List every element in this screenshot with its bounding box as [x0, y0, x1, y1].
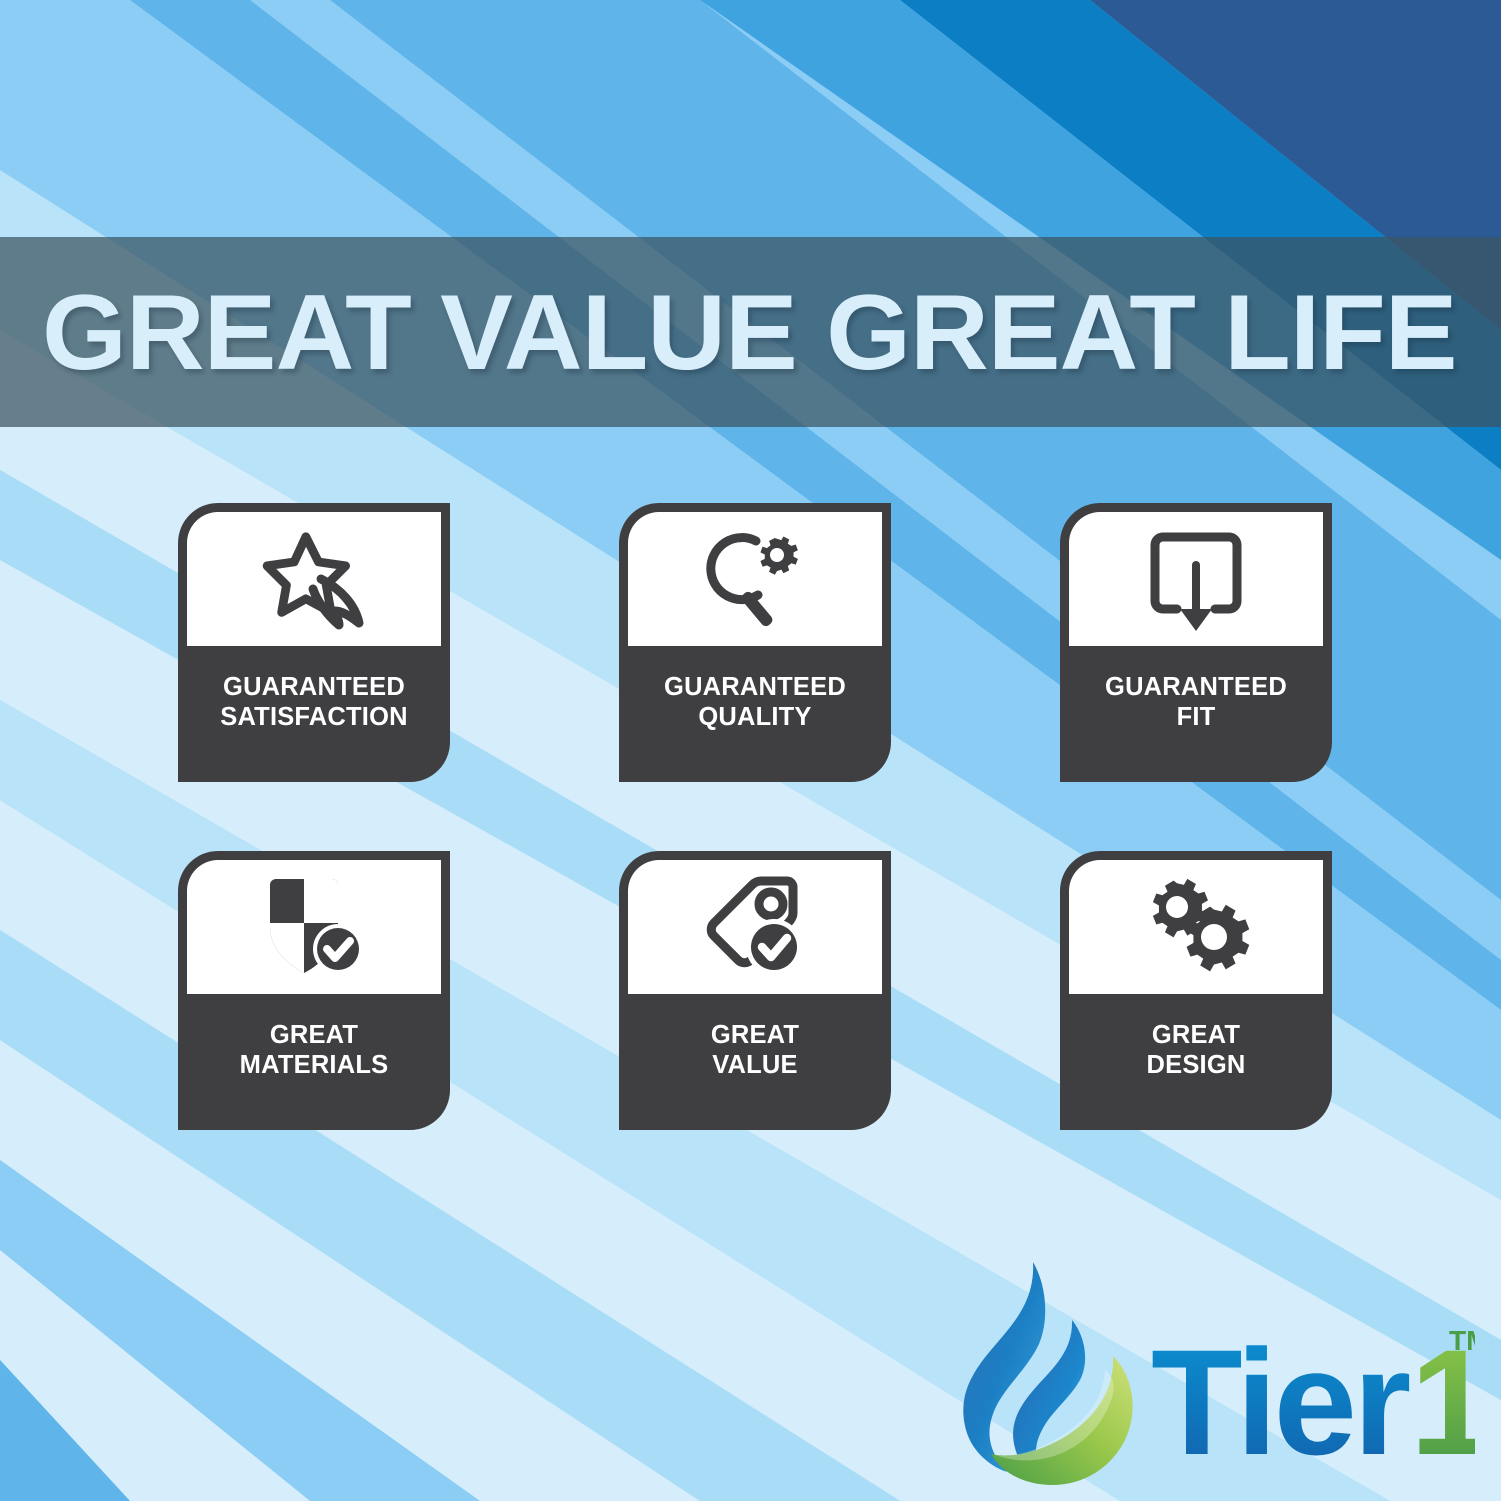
feature-card-guaranteed-quality[interactable]: GUARANTEED QUALITY	[619, 503, 891, 782]
logo-wordmark-tier: Tier	[1151, 1318, 1410, 1486]
icon-panel	[628, 512, 882, 646]
promo-graphic: GREAT VALUE GREAT LIFE GUARANTEED SATISF…	[0, 0, 1501, 1501]
flame-leaf-icon	[963, 1262, 1132, 1485]
icon-panel	[628, 860, 882, 994]
card-label: GUARANTEED SATISFACTION	[187, 646, 441, 773]
feature-card-guaranteed-satisfaction[interactable]: GUARANTEED SATISFACTION	[178, 503, 450, 782]
card-label: GUARANTEED QUALITY	[628, 646, 882, 773]
card-label: GREAT VALUE	[628, 994, 882, 1121]
logo-trademark: TM	[1449, 1325, 1475, 1356]
shield-check-icon	[256, 871, 372, 983]
shooting-star-icon	[255, 523, 373, 635]
icon-panel	[1069, 860, 1323, 994]
box-arrow-down-icon	[1143, 523, 1249, 635]
price-tag-check-icon	[695, 871, 815, 983]
feature-card-great-value[interactable]: GREAT VALUE	[619, 851, 891, 1130]
page-title: GREAT VALUE GREAT LIFE	[42, 279, 1457, 386]
icon-panel	[187, 860, 441, 994]
magnifier-gear-icon	[694, 523, 816, 635]
feature-card-great-design[interactable]: GREAT DESIGN	[1060, 851, 1332, 1130]
card-label: GREAT DESIGN	[1069, 994, 1323, 1121]
feature-card-grid: GUARANTEED SATISFACTION GUARANTEED QUALI…	[178, 503, 1332, 1130]
icon-panel	[187, 512, 441, 646]
feature-card-great-materials[interactable]: GREAT MATERIALS	[178, 851, 450, 1130]
feature-card-guaranteed-fit[interactable]: GUARANTEED FIT	[1060, 503, 1332, 782]
icon-panel	[1069, 512, 1323, 646]
headline-banner: GREAT VALUE GREAT LIFE	[0, 237, 1501, 427]
gears-icon	[1134, 871, 1258, 983]
card-label: GUARANTEED FIT	[1069, 646, 1323, 773]
tier1-logo[interactable]: Tier 1 TM	[955, 1258, 1475, 1493]
card-label: GREAT MATERIALS	[187, 994, 441, 1121]
